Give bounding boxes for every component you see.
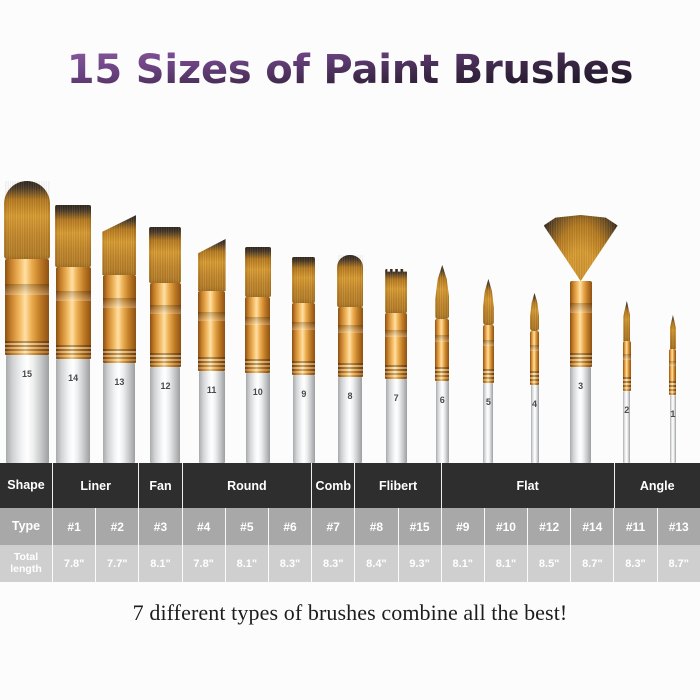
brush-ferrule-15 [5,259,49,355]
brush-11[interactable]: 11 [196,215,228,463]
length-cell: 8.3" [268,545,311,582]
brush-handle-5: 5 [483,383,493,463]
ferrule-crimp [483,340,494,346]
ferrule-crimp [198,312,225,321]
brush-5[interactable]: 5 [481,271,496,463]
brush-handle-14: 14 [56,359,90,463]
type-cell: #13 [657,508,700,545]
brush-8[interactable]: 8 [335,231,365,463]
brush-14[interactable]: 14 [53,171,93,463]
brush-lineup: 151413121110987654321 [0,118,700,463]
brush-head-3 [542,215,620,281]
ferrule-rings [338,363,363,377]
brush-ferrule-10 [245,297,270,373]
brush-number-label: 4 [532,399,537,409]
length-cell: 8.1" [484,545,527,582]
bristles-round-point [435,265,449,319]
shape-group-round: Round [182,463,312,508]
paint-brush-infographic: 15 Sizes of Paint Brushes 15141312111098… [0,0,700,700]
shape-group-angle: Angle [614,463,700,508]
brush-head-12 [147,227,183,283]
caption-container: 7 different types of brushes combine all… [0,600,700,626]
brush-head-14 [53,205,93,267]
brush-head-9 [290,257,317,303]
type-cell: #7 [311,508,354,545]
ferrule-crimp [56,291,91,301]
bristles-comb [385,269,407,313]
brush-handle-3: 3 [570,367,591,463]
brush-number-label: 9 [301,389,306,399]
brush-handle-2: 2 [623,391,630,463]
brush-head-5 [481,279,496,325]
type-cell: #10 [484,508,527,545]
brush-ferrule-13 [103,275,136,363]
brush-handle-13: 13 [103,363,135,463]
brush-number-label: 15 [22,369,32,379]
brush-ferrule-7 [385,313,407,379]
brush-number-label: 8 [347,391,352,401]
ferrule-rings [570,353,592,367]
brush-1[interactable]: 1 [667,313,678,463]
brush-handle-11: 11 [199,371,225,463]
brush-ferrule-12 [150,283,181,367]
bristles-flat [149,227,181,283]
type-cell: #3 [138,508,181,545]
brush-6[interactable]: 6 [433,251,451,463]
brush-4[interactable]: 4 [528,289,541,463]
ferrule-crimp [570,303,592,312]
ferrule-crimp [623,354,631,360]
length-cell: 9.3" [398,545,441,582]
specs-table: Shape LinerFanRoundCombFlibertFlatAngle … [0,463,700,582]
brush-12[interactable]: 12 [147,201,183,463]
length-cell: 7.8" [182,545,225,582]
brush-ferrule-9 [292,303,315,375]
ferrule-rings [483,369,494,383]
brush-ferrule-14 [56,267,91,359]
length-cell: 8.1" [225,545,268,582]
shape-group-liner: Liner [52,463,138,508]
ferrule-rings [198,357,225,371]
length-cell: 8.7" [657,545,700,582]
brush-10[interactable]: 10 [243,225,273,463]
bristles-round-point [530,293,539,331]
type-cell: #14 [570,508,613,545]
bristles-round-point [483,279,494,325]
brush-number-label: 10 [253,387,263,397]
brush-handle-12: 12 [150,367,180,463]
table-row-total-length: Totallength 7.8"7.7"8.1"7.8"8.1"8.3"8.3"… [0,545,700,582]
ferrule-rings [623,377,631,391]
brush-head-11 [196,239,228,291]
length-cell: 8.5" [527,545,570,582]
ferrule-crimp [292,322,315,330]
row-label-type: Type [0,508,52,545]
ferrule-rings [530,371,539,385]
brush-handle-1: 1 [670,395,676,463]
ferrule-crimp [150,305,181,314]
brush-number-label: 13 [114,377,124,387]
brush-7[interactable]: 7 [383,249,409,463]
ferrule-crimp [245,317,270,325]
ferrule-crimp [103,298,136,308]
brush-3[interactable]: 3 [542,205,620,463]
bristles-angle [198,239,226,291]
brush-15[interactable]: 15 [2,145,52,463]
brush-head-6 [433,265,451,319]
ferrule-rings [103,349,136,363]
ferrule-crimp [338,325,363,333]
type-cell: #15 [398,508,441,545]
row-label-shape: Shape [0,463,52,508]
brush-head-1 [667,315,678,349]
brush-ferrule-3 [570,281,592,367]
ferrule-rings [5,341,49,355]
length-cell: 8.1" [138,545,181,582]
type-cell: #9 [441,508,484,545]
brush-ferrule-1 [669,349,676,395]
brush-head-10 [243,247,273,297]
brush-number-label: 11 [207,385,217,395]
brush-ferrule-2 [623,341,631,391]
brush-head-7 [383,269,409,313]
brush-handle-9: 9 [293,375,315,463]
brush-head-4 [528,293,541,331]
brush-head-8 [335,255,365,307]
ferrule-rings [292,361,315,375]
bristles-flat [55,205,91,267]
ferrule-rings [56,345,91,359]
brush-number-label: 6 [440,395,445,405]
length-cell: 8.7" [570,545,613,582]
brush-head-15 [2,181,52,259]
brush-handle-7: 7 [386,379,407,463]
brush-handle-8: 8 [338,377,362,463]
brush-number-label: 12 [160,381,170,391]
row-label-total-length: Totallength [0,545,52,582]
bristles-flat [245,247,271,297]
type-cell: #6 [268,508,311,545]
length-cell: 7.7" [95,545,138,582]
brush-handle-10: 10 [246,373,270,463]
type-cell: #8 [354,508,397,545]
brush-13[interactable]: 13 [100,185,138,463]
shape-group-comb: Comb [311,463,354,508]
type-cell: #2 [95,508,138,545]
bristles-liner [623,301,630,341]
ferrule-crimp [385,330,407,337]
brush-number-label: 3 [578,381,583,391]
table-row-type: Type #1#2#3#4#5#6#7#8#15#9#10#12#14#11#1… [0,508,700,545]
shape-group-flibert: Flibert [354,463,440,508]
brush-handle-15: 15 [6,355,49,463]
brush-number-label: 1 [670,409,675,419]
bristles-oval [4,181,50,259]
shape-group-flat: Flat [441,463,614,508]
ferrule-rings [385,365,407,379]
footer-caption: 7 different types of brushes combine all… [133,600,568,625]
bristles-angle [102,215,136,275]
brush-ferrule-11 [198,291,225,371]
ferrule-crimp [669,361,676,366]
shape-group-fan: Fan [138,463,181,508]
brush-9[interactable]: 9 [290,235,317,463]
title-container: 15 Sizes of Paint Brushes [0,48,700,92]
type-cell: #5 [225,508,268,545]
length-cell: 8.1" [441,545,484,582]
ferrule-rings [150,353,181,367]
ferrule-rings [245,359,270,373]
brush-handle-6: 6 [436,381,449,463]
brush-head-13 [100,215,138,275]
length-cell: 8.4" [354,545,397,582]
brush-ferrule-5 [483,325,494,383]
brush-ferrule-6 [435,319,449,381]
length-cell: 7.8" [52,545,95,582]
ferrule-crimp [5,284,49,295]
brush-2[interactable]: 2 [621,297,633,463]
bristles-liner [670,315,676,349]
brush-ferrule-8 [338,307,363,377]
ferrule-rings [669,381,676,395]
bristles-filbert [337,255,363,307]
brush-handle-4: 4 [531,385,539,463]
bristles-flat [292,257,315,303]
brush-number-label: 5 [486,397,491,407]
type-cell: #11 [613,508,656,545]
page-title: 15 Sizes of Paint Brushes [67,48,633,92]
brush-number-label: 14 [68,373,78,383]
brush-head-2 [621,301,633,341]
ferrule-crimp [530,345,539,351]
ferrule-crimp [435,335,449,342]
length-cell: 8.3" [613,545,656,582]
brush-number-label: 2 [624,405,629,415]
type-cell: #4 [182,508,225,545]
brush-number-label: 7 [394,393,399,403]
table-row-shape: Shape LinerFanRoundCombFlibertFlatAngle [0,463,700,508]
length-cell: 8.3" [311,545,354,582]
type-cell: #12 [527,508,570,545]
ferrule-rings [435,367,449,381]
brush-ferrule-4 [530,331,539,385]
bristles-fan [544,215,618,281]
type-cell: #1 [52,508,95,545]
